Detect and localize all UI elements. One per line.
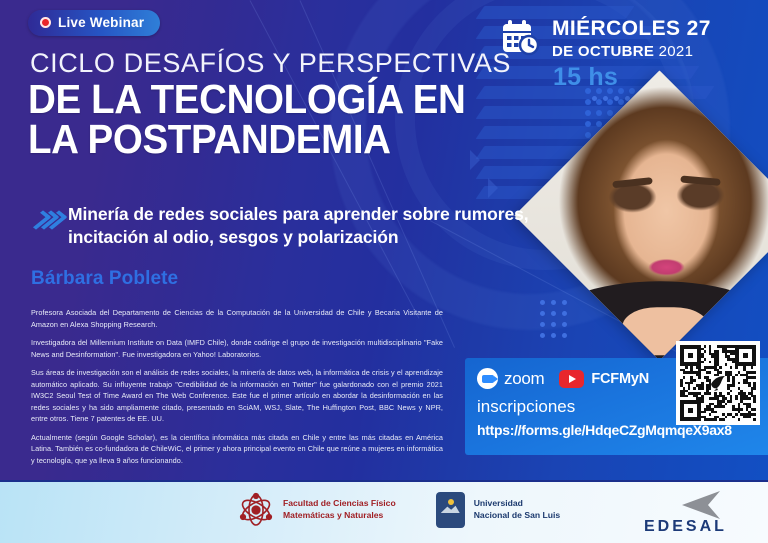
background-chevron-2 xyxy=(488,178,498,198)
subtitle-text: Minería de redes sociales para aprender … xyxy=(68,203,538,249)
event-weekday: MIÉRCOLES 27 xyxy=(552,18,711,39)
speaker-bio: Profesora Asociada del Departamento de C… xyxy=(31,307,443,466)
fcfmyn-line1: Facultad de Ciencias Físico xyxy=(283,498,396,510)
fcfmyn-line2: Matemáticas y Naturales xyxy=(283,510,396,522)
youtube-channel-label: FCFMyN xyxy=(591,371,649,387)
qr-eye-bl xyxy=(680,400,701,421)
logo-fcfmyn: Facultad de Ciencias Físico Matemáticas … xyxy=(238,492,396,528)
qr-eye-tl xyxy=(680,345,701,366)
footer-bar: Facultad de Ciencias Físico Matemáticas … xyxy=(0,480,768,543)
page-title-line2: LA POSTPANDEMIA xyxy=(28,120,465,160)
zoom-platform[interactable]: zoom xyxy=(477,368,544,389)
fcfmyn-label: Facultad de Ciencias Físico Matemáticas … xyxy=(283,498,396,521)
unsl-line1: Universidad xyxy=(474,498,560,510)
logo-edesal: EDESAL xyxy=(640,490,750,538)
live-record-dot-icon xyxy=(40,17,51,28)
fcfmyn-atom-logo-icon xyxy=(238,492,274,528)
live-webinar-label: Live Webinar xyxy=(58,15,144,30)
speaker-name: Bárbara Poblete xyxy=(31,268,178,290)
event-month-year: DE OCTUBRE 2021 xyxy=(552,43,711,60)
zoom-label: zoom xyxy=(504,369,544,389)
event-date-block: MIÉRCOLES 27 DE OCTUBRE 2021 xyxy=(502,18,711,60)
unsl-line2: Nacional de San Luis xyxy=(474,510,560,522)
youtube-play-icon xyxy=(559,370,584,388)
edesal-label: EDESAL xyxy=(644,518,754,536)
calendar-clock-icon xyxy=(502,20,540,56)
unsl-label: Universidad Nacional de San Luis xyxy=(474,498,560,521)
inscriptions-label: inscripciones xyxy=(477,397,575,417)
portrait-brow-left xyxy=(612,176,653,187)
youtube-platform[interactable]: FCFMyN xyxy=(559,370,649,388)
bio-paragraph-4: Actualmente (según Google Scholar), es l… xyxy=(31,432,443,467)
background-chevron-1 xyxy=(470,150,480,170)
live-webinar-badge: Live Webinar xyxy=(28,10,160,36)
event-date-text: MIÉRCOLES 27 DE OCTUBRE 2021 xyxy=(552,18,711,60)
portrait-brow-right xyxy=(680,175,720,185)
bio-paragraph-3: Sus áreas de investigación son el anális… xyxy=(31,367,443,425)
qr-eye-tr xyxy=(735,345,756,366)
bio-paragraph-1: Profesora Asociada del Departamento de C… xyxy=(31,307,443,330)
page-title: DE LA TECNOLOGÍA EN LA POSTPANDEMIA xyxy=(28,80,465,160)
qr-code[interactable] xyxy=(676,341,760,425)
event-year: 2021 xyxy=(659,43,694,60)
event-time: 15 hs xyxy=(553,63,618,92)
qr-code-pattern xyxy=(680,345,756,421)
chevrons-right-icon xyxy=(34,210,58,230)
event-month: DE OCTUBRE xyxy=(552,43,654,60)
footer-logo-group: Facultad de Ciencias Físico Matemáticas … xyxy=(238,492,560,528)
platform-row: zoom FCFMyN xyxy=(477,368,649,389)
logo-unsl: Universidad Nacional de San Luis xyxy=(436,492,560,528)
page-title-line1: DE LA TECNOLOGÍA EN xyxy=(28,80,465,120)
subtitle-block: Minería de redes sociales para aprender … xyxy=(34,203,538,249)
bio-paragraph-2: Investigadora del Millennium Institute o… xyxy=(31,337,443,360)
webinar-poster: Live Webinar CICLO DESAFÍOS Y PERSPECTIV… xyxy=(0,0,768,543)
unsl-shield-logo-icon xyxy=(436,492,465,528)
zoom-camera-icon xyxy=(477,368,498,389)
page-kicker: CICLO DESAFÍOS Y PERSPECTIVAS xyxy=(30,48,511,79)
